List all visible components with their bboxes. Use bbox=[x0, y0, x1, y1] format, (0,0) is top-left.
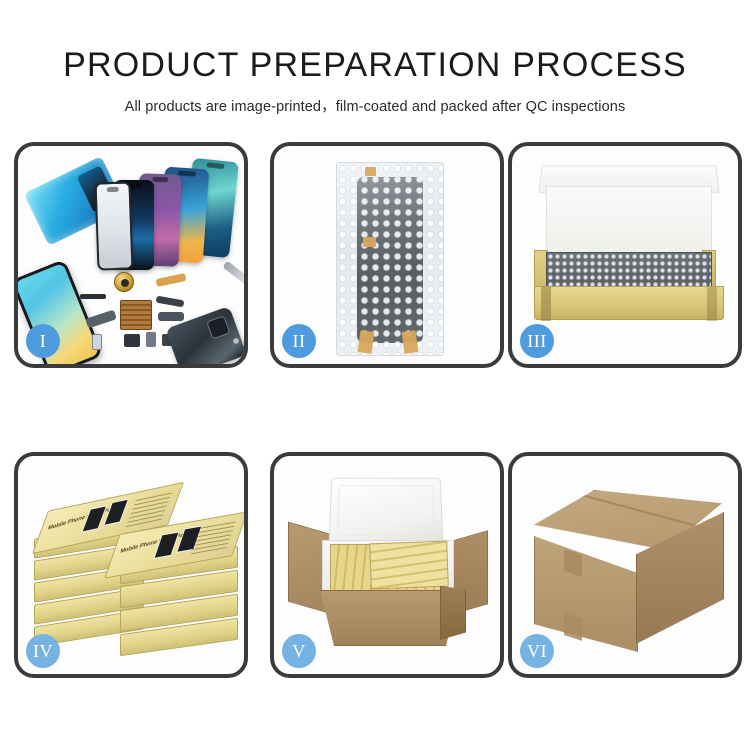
carton-side-panel bbox=[440, 586, 466, 640]
screen-glass-panel bbox=[94, 181, 133, 270]
carton-left-face bbox=[534, 536, 638, 652]
speaker-coil-part bbox=[114, 272, 134, 292]
flex-cable-gold bbox=[155, 273, 186, 287]
tape-strip-top bbox=[365, 167, 376, 176]
step-panel-2: II bbox=[270, 142, 504, 368]
box-spec-lines-back bbox=[126, 491, 173, 527]
box-window-back-1 bbox=[81, 505, 107, 533]
box-window-back-2 bbox=[103, 499, 129, 527]
battery-connector-part bbox=[80, 294, 106, 299]
box-front-yellow bbox=[534, 286, 724, 320]
button-part bbox=[146, 332, 156, 347]
step-badge-4: IV bbox=[26, 634, 60, 668]
tape-strip-bottom-right bbox=[402, 330, 419, 354]
page-subtitle: All products are image-printed，film-coat… bbox=[0, 95, 750, 116]
camera-module-part bbox=[124, 334, 140, 347]
step-badge-3: III bbox=[520, 324, 554, 358]
spare-parts-group bbox=[80, 272, 248, 364]
flex-cable-gray bbox=[85, 310, 117, 329]
step-panel-4: Mobile Phone Spare Parts Mobile Phone Sp… bbox=[14, 452, 248, 678]
phone-lineup-group bbox=[96, 160, 246, 270]
step-badge-1: I bbox=[26, 324, 60, 358]
screwdriver-tool bbox=[222, 261, 248, 296]
step-panel-5: V bbox=[270, 452, 504, 678]
box-stack-group: Mobile Phone Spare Parts Mobile Phone Sp… bbox=[34, 480, 234, 660]
step-badge-6: VI bbox=[520, 634, 554, 668]
product-preparation-infographic: PRODUCT PREPARATION PROCESS All products… bbox=[0, 0, 750, 750]
screws-part bbox=[232, 336, 248, 346]
step-panel-3: III bbox=[508, 142, 742, 368]
yellow-boxes-row-2 bbox=[369, 541, 449, 590]
carton-tape-lower bbox=[564, 613, 582, 641]
bubble-texture bbox=[337, 163, 443, 355]
header: PRODUCT PREPARATION PROCESS All products… bbox=[0, 0, 750, 116]
flex-cable-small bbox=[158, 312, 184, 321]
step-panel-6: VI bbox=[508, 452, 742, 678]
step-badge-5: V bbox=[282, 634, 316, 668]
bubble-wrap-bag bbox=[336, 162, 444, 356]
flex-cable-dark bbox=[156, 296, 185, 308]
copper-grid-part bbox=[120, 300, 152, 330]
carton-front-panel bbox=[320, 590, 460, 646]
page-title: PRODUCT PREPARATION PROCESS bbox=[0, 48, 750, 82]
foam-lid-open bbox=[329, 478, 444, 544]
step-badge-2: II bbox=[282, 324, 316, 358]
step-panel-1: I bbox=[14, 142, 248, 368]
box-window-front-1 bbox=[153, 531, 179, 559]
sim-tray-part bbox=[92, 334, 102, 350]
tape-strip-middle bbox=[363, 237, 376, 247]
